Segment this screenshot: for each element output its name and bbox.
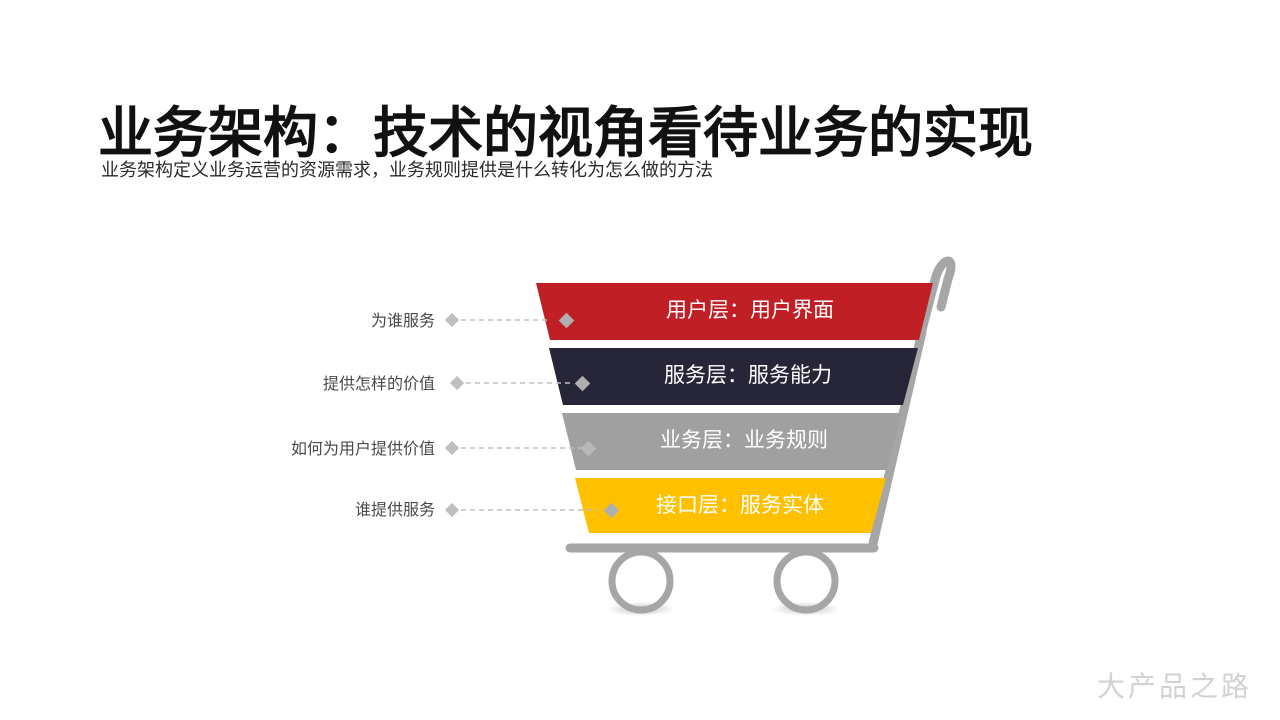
shopping-cart-graphic: [0, 0, 1280, 720]
architecture-diagram: 为谁服务 提供怎样的价值 如何为用户提供价值 谁提供服务 用户层：用户界面 服务…: [0, 0, 1280, 720]
connector-diamond-outer-1: [450, 376, 464, 390]
annotation-label-interface-layer: 谁提供服务: [175, 500, 435, 522]
layer-label-interface-layer: 接口层：服务实体: [590, 492, 890, 520]
layer-label-user-layer: 用户层：用户界面: [600, 297, 900, 325]
watermark: 大产品之路: [1097, 668, 1252, 706]
annotation-label-service-layer: 提供怎样的价值: [175, 374, 435, 396]
cart-wheel-left: [612, 552, 670, 610]
slide-canvas: 业务架构：技术的视角看待业务的实现 业务架构定义业务运营的资源需求，业务规则提供…: [0, 0, 1280, 720]
connector-diamond-outer-2: [445, 441, 459, 455]
layer-label-service-layer: 服务层：服务能力: [598, 362, 898, 390]
connector-diamond-outer-3: [445, 503, 459, 517]
layer-label-business-layer: 业务层：业务规则: [594, 427, 894, 455]
annotation-label-business-layer: 如何为用户提供价值: [175, 439, 435, 461]
cart-wheel-right: [777, 552, 835, 610]
connector-diamond-outer-0: [445, 313, 459, 327]
annotation-label-user-layer: 为谁服务: [175, 311, 435, 333]
